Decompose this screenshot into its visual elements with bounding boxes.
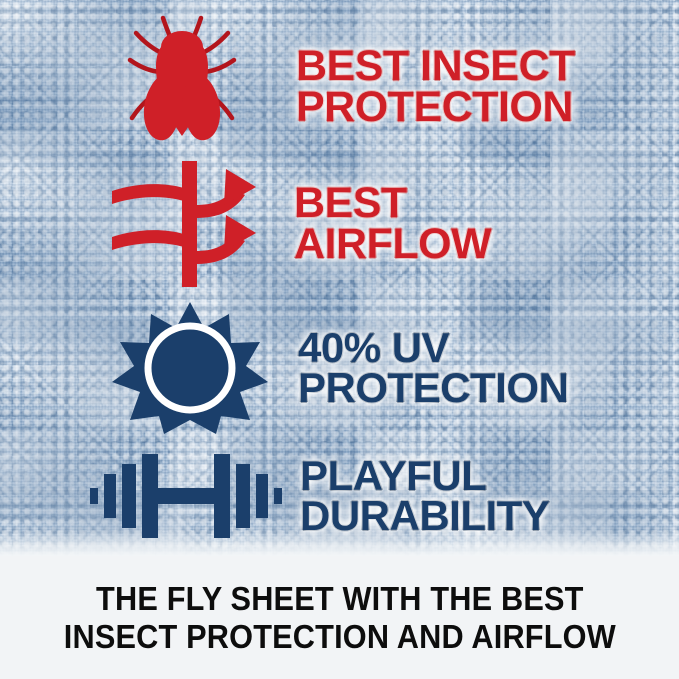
dumbbell-icon	[88, 446, 284, 546]
fly-icon-wrapper	[118, 14, 246, 160]
banner-headline: THE FLY SHEET WITH THE BEST INSECT PROTE…	[63, 580, 615, 655]
feature-row-insect-protection: BEST INSECT PROTECTION	[118, 14, 678, 160]
feature-row-uv-protection: 40% UV PROTECTION	[112, 298, 678, 438]
product-feature-infographic: BEST INSECT PROTECTION	[0, 0, 679, 679]
feature-row-airflow: BEST AIRFLOW	[108, 160, 678, 288]
feature-row-durability: PLAYFUL DURABILITY	[88, 440, 678, 552]
airflow-arrows-icon	[108, 161, 276, 287]
feature-label-airflow: BEST AIRFLOW	[294, 183, 491, 266]
airflow-icon-wrapper	[108, 161, 276, 287]
bottom-banner: THE FLY SHEET WITH THE BEST INSECT PROTE…	[0, 556, 679, 679]
feature-label-uv-protection: 40% UV PROTECTION	[298, 328, 568, 409]
fly-icon	[118, 14, 246, 160]
feature-label-durability: PLAYFUL DURABILITY	[300, 456, 549, 537]
sun-icon	[112, 300, 268, 436]
sun-icon-wrapper	[112, 300, 268, 436]
feature-label-insect-protection: BEST INSECT PROTECTION	[296, 46, 575, 129]
dumbbell-icon-wrapper	[88, 446, 284, 546]
